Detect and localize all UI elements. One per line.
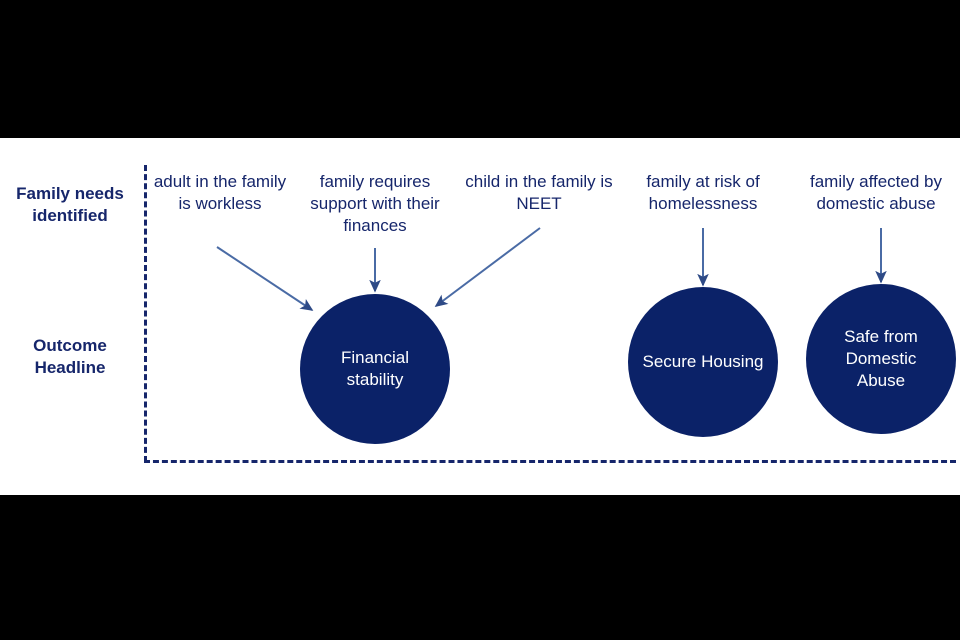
row-label-line-1: Outcome bbox=[2, 335, 138, 357]
row-label-outcome-headline: Outcome Headline bbox=[2, 335, 138, 379]
outcome-circle-secure-housing[interactable]: Secure Housing bbox=[628, 287, 778, 437]
need-label-homelessness: family at risk of homelessness bbox=[622, 171, 784, 215]
outcome-circle-safe-from-domestic-abuse[interactable]: Safe from Domestic Abuse bbox=[806, 284, 956, 434]
outcome-circle-financial-stability[interactable]: Financial stability bbox=[300, 294, 450, 444]
letterbox-bar-top bbox=[0, 0, 960, 138]
need-label-domestic-abuse: family affected by domestic abuse bbox=[792, 171, 960, 215]
boundary-dashed-vertical bbox=[144, 165, 147, 462]
row-label-line-2: Headline bbox=[2, 357, 138, 379]
boundary-dashed-horizontal bbox=[144, 460, 956, 463]
diagram-canvas: Family needs identified Outcome Headline… bbox=[0, 0, 960, 640]
outcome-circle-label: Safe from Domestic Abuse bbox=[806, 326, 956, 392]
need-label-neet: child in the family is NEET bbox=[464, 171, 614, 215]
arrow-neet-to-financial-stability bbox=[436, 228, 540, 306]
letterbox-bar-bottom bbox=[0, 495, 960, 640]
need-label-workless: adult in the family is workless bbox=[152, 171, 288, 215]
outcome-circle-label: Financial stability bbox=[300, 347, 450, 391]
diagram-content-band: Family needs identified Outcome Headline… bbox=[0, 138, 960, 495]
outcome-circle-label: Secure Housing bbox=[629, 351, 778, 373]
row-label-line-1: Family needs bbox=[2, 183, 138, 205]
row-label-family-needs-identified: Family needs identified bbox=[2, 183, 138, 227]
need-label-finances: family requires support with their finan… bbox=[300, 171, 450, 237]
row-label-line-2: identified bbox=[2, 205, 138, 227]
arrow-workless-to-financial-stability bbox=[217, 247, 312, 310]
